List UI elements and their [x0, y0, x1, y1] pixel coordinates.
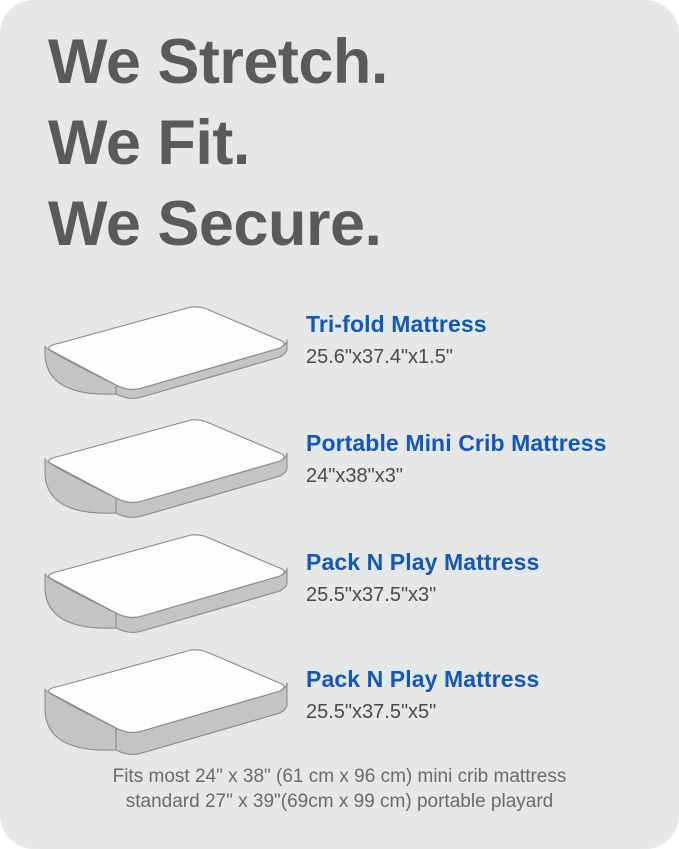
product-labels: Pack N Play Mattress25.5"x37.5"x5": [306, 665, 666, 725]
product-title: Pack N Play Mattress: [306, 665, 666, 693]
product-labels: Pack N Play Mattress25.5"x37.5"x3": [306, 548, 666, 608]
product-row: Portable Mini Crib Mattress24"x38"x3": [0, 411, 679, 526]
product-title: Portable Mini Crib Mattress: [306, 429, 666, 457]
product-labels: Tri-fold Mattress25.6"x37.4"x1.5": [306, 310, 666, 370]
product-dimensions: 25.5"x37.5"x3": [306, 582, 666, 608]
product-row: Pack N Play Mattress25.5"x37.5"x3": [0, 526, 679, 641]
page-title: We Stretch. We Fit. We Secure.: [48, 22, 648, 265]
product-row: Pack N Play Mattress25.5"x37.5"x5": [0, 641, 679, 756]
footer-line-1: Fits most 24" x 38" (61 cm x 96 cm) mini…: [0, 764, 679, 789]
product-title: Pack N Play Mattress: [306, 548, 666, 576]
headline-line-3: We Secure.: [48, 184, 648, 265]
infographic-card: We Stretch. We Fit. We Secure. Tri-fold …: [0, 0, 679, 849]
mattress-3d-icon: [34, 415, 292, 525]
mattress-3d-icon: [34, 645, 292, 755]
product-title: Tri-fold Mattress: [306, 310, 666, 338]
product-dimensions: 24"x38"x3": [306, 463, 666, 489]
footer-note: Fits most 24" x 38" (61 cm x 96 cm) mini…: [0, 764, 679, 814]
mattress-3d-icon: [34, 302, 292, 412]
product-labels: Portable Mini Crib Mattress24"x38"x3": [306, 429, 666, 489]
mattress-3d-icon: [34, 530, 292, 640]
footer-line-2: standard 27" x 39"(69cm x 99 cm) portabl…: [0, 789, 679, 814]
headline-line-2: We Fit.: [48, 103, 648, 184]
product-row: Tri-fold Mattress25.6"x37.4"x1.5": [0, 296, 679, 411]
product-dimensions: 25.5"x37.5"x5": [306, 699, 666, 725]
product-dimensions: 25.6"x37.4"x1.5": [306, 344, 666, 370]
product-list: Tri-fold Mattress25.6"x37.4"x1.5"Portabl…: [0, 296, 679, 756]
headline-line-1: We Stretch.: [48, 22, 648, 103]
